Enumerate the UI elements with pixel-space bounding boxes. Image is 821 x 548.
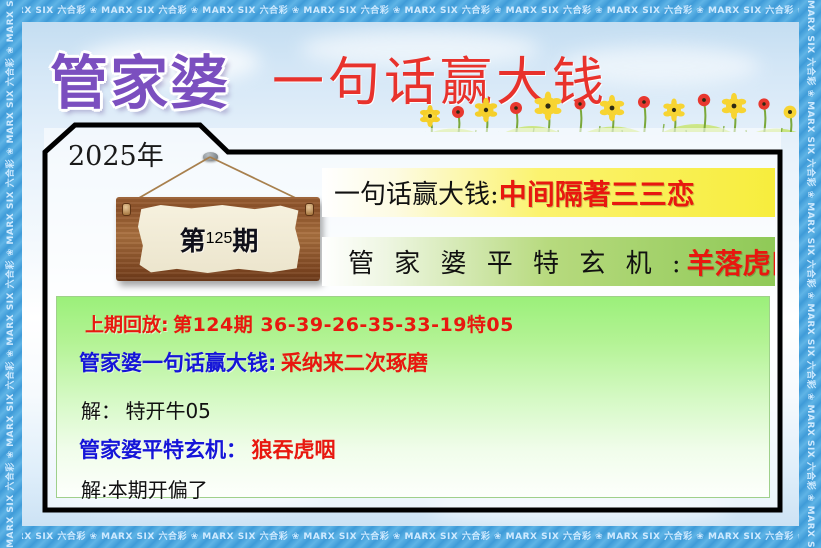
band-yellow: 一句话赢大钱: 中间隔著三三恋 <box>322 168 775 217</box>
band-green-label: 管 家 婆 平 特 玄 机 : <box>348 243 687 280</box>
band-yellow-label: 一句话赢大钱: <box>334 174 499 211</box>
row-value-replay: 第124期 36-39-26-35-33-19特05 <box>173 314 514 336</box>
flower-grass-decoration <box>412 82 799 132</box>
border-left-text: MARX SIX 六合彩 ❀ MARX SIX 六合彩 ❀ MARX SIX 六… <box>0 0 22 548</box>
lottery-poster: 管家婆 一句话赢大钱 <box>0 0 821 548</box>
panel-row: 解： 特开牛05 <box>81 395 769 424</box>
row-label-replay: 上期回放: <box>85 314 169 336</box>
border-bottom: MARX SIX 六合彩 ❀ MARX SIX 六合彩 ❀ MARX SIX 六… <box>0 526 821 548</box>
screw-icon <box>305 203 314 216</box>
band-yellow-value: 中间隔著三三恋 <box>499 173 695 213</box>
issue-prefix: 第 <box>180 221 206 258</box>
brand-title: 管家婆 <box>50 36 230 120</box>
parchment-paper: 第125期 <box>138 205 300 273</box>
row-value-explain-1: 特开牛05 <box>125 399 210 423</box>
hanging-sign: 第125期 <box>98 155 338 295</box>
panel-row: 上期回放: 第124期 36-39-26-35-33-19特05 <box>85 310 769 337</box>
border-top-text: MARX SIX 六合彩 ❀ MARX SIX 六合彩 ❀ MARX SIX 六… <box>0 6 821 16</box>
border-bottom-text: MARX SIX 六合彩 ❀ MARX SIX 六合彩 ❀ MARX SIX 六… <box>0 532 821 542</box>
band-green-value: 羊落虎口 <box>687 242 775 282</box>
border-top: MARX SIX 六合彩 ❀ MARX SIX 六合彩 ❀ MARX SIX 六… <box>0 0 821 22</box>
panel-row: 管家婆平特玄机： 狼吞虎咽 <box>79 434 769 464</box>
panel-row: 管家婆一句话赢大钱: 采纳来二次琢磨 <box>79 347 769 377</box>
row-label-pingte: 管家婆平特玄机： <box>79 438 247 462</box>
row-label-explain-2: 解:本期开偏了 <box>81 478 208 502</box>
row-label-slogan: 管家婆一句话赢大钱: <box>79 351 276 375</box>
band-green: 管 家 婆 平 特 玄 机 : 羊落虎口 <box>322 237 775 286</box>
border-right: MARX SIX 六合彩 ❀ MARX SIX 六合彩 ❀ MARX SIX 六… <box>799 0 821 548</box>
result-panel: 上期回放: 第124期 36-39-26-35-33-19特05 管家婆一句话赢… <box>56 296 770 498</box>
issue-number: 125 <box>206 230 233 248</box>
issue-suffix: 期 <box>232 221 258 258</box>
row-label-explain-1: 解： <box>81 399 121 423</box>
wooden-board: 第125期 <box>116 197 320 281</box>
row-value-slogan: 采纳来二次琢磨 <box>281 351 428 375</box>
poster-header: 管家婆 一句话赢大钱 <box>22 22 799 132</box>
screw-icon <box>122 203 131 216</box>
border-right-text: MARX SIX 六合彩 ❀ MARX SIX 六合彩 ❀ MARX SIX 六… <box>799 0 821 548</box>
panel-row: 解:本期开偏了 <box>81 474 769 503</box>
border-left: MARX SIX 六合彩 ❀ MARX SIX 六合彩 ❀ MARX SIX 六… <box>0 0 22 548</box>
row-value-pingte: 狼吞虎咽 <box>251 438 335 462</box>
